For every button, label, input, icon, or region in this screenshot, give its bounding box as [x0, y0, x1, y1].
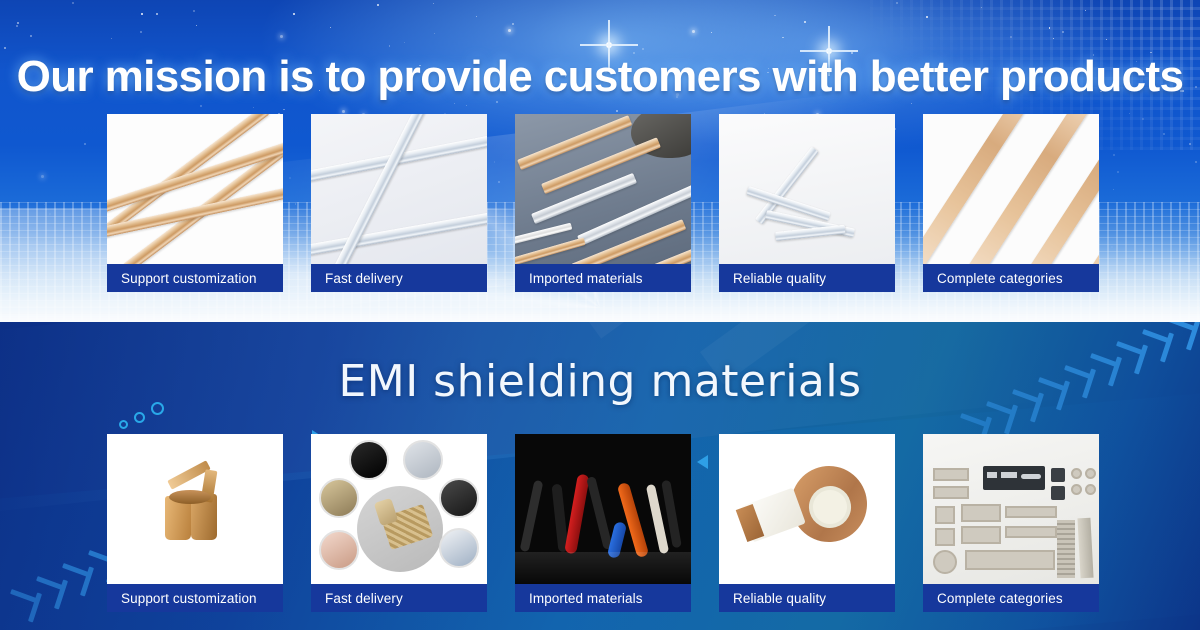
tile-complete-categories[interactable]: Complete categories: [923, 434, 1099, 612]
tile-fast-delivery[interactable]: Fast delivery: [311, 114, 487, 292]
light-burst-icon: [606, 42, 612, 48]
tile-image: [719, 434, 895, 584]
tile-caption: Support customization: [107, 264, 283, 292]
tile-image: [923, 114, 1099, 264]
triangle-marker-icon: [697, 455, 708, 469]
tile-image: [311, 114, 487, 264]
tile-image: [923, 434, 1099, 584]
tile-image: [107, 114, 283, 264]
tile-caption: Complete categories: [923, 584, 1099, 612]
banner-stage: Our mission is to provide customers with…: [0, 0, 1200, 630]
tile-image: [311, 434, 487, 584]
tile-support-customization[interactable]: Support customization: [107, 434, 283, 612]
tile-support-customization[interactable]: Support customization: [107, 114, 283, 292]
tile-image: [515, 114, 691, 264]
circle-marker-icon: [134, 412, 145, 423]
tile-caption: Imported materials: [515, 584, 691, 612]
section-title: EMI shielding materials: [0, 356, 1200, 407]
tile-image: [107, 434, 283, 584]
tile-fast-delivery[interactable]: Fast delivery: [311, 434, 487, 612]
tile-reliable-quality[interactable]: Reliable quality: [719, 114, 895, 292]
tile-caption: Fast delivery: [311, 584, 487, 612]
tile-caption: Support customization: [107, 584, 283, 612]
tile-image: [515, 434, 691, 584]
tile-reliable-quality[interactable]: Reliable quality: [719, 434, 895, 612]
circle-marker-icon: [119, 420, 128, 429]
tile-caption: Fast delivery: [311, 264, 487, 292]
tile-imported-materials[interactable]: Imported materials: [515, 114, 691, 292]
tile-complete-categories[interactable]: Complete categories: [923, 114, 1099, 292]
tile-imported-materials[interactable]: Imported materials: [515, 434, 691, 612]
page-title: Our mission is to provide customers with…: [0, 52, 1200, 102]
tile-caption: Imported materials: [515, 264, 691, 292]
tile-caption: Complete categories: [923, 264, 1099, 292]
tile-caption: Reliable quality: [719, 584, 895, 612]
tile-image: [719, 114, 895, 264]
tile-caption: Reliable quality: [719, 264, 895, 292]
